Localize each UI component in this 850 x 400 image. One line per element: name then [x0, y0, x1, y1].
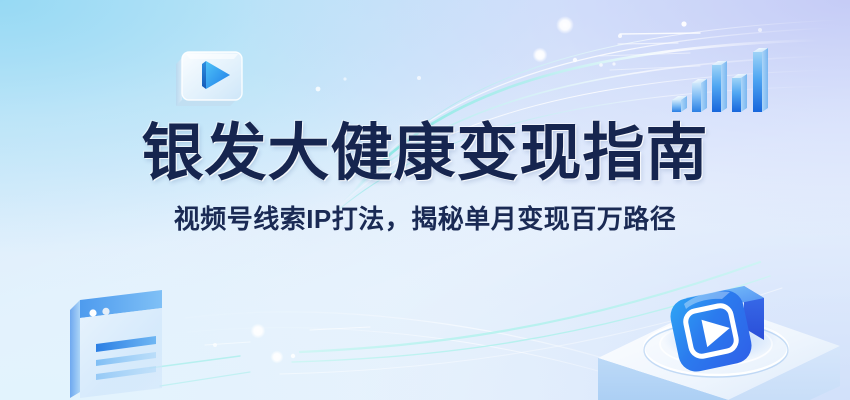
- glow-dot: [417, 76, 421, 80]
- glow-dot: [599, 63, 603, 67]
- glow-dot: [618, 34, 622, 38]
- bar-4: [732, 74, 747, 112]
- play-card-3d-icon: [172, 44, 248, 112]
- glow-dot: [556, 16, 574, 34]
- glow-dot: [316, 87, 321, 92]
- bar-2: [692, 79, 707, 112]
- glow-dot: [533, 48, 548, 63]
- bar-3: [712, 61, 727, 112]
- glow-dot: [573, 58, 577, 62]
- glow-dot: [343, 77, 346, 80]
- page-subtitle: 视频号线索IP打法，揭秘单月变现百万路径: [0, 202, 850, 236]
- glow-dot: [291, 354, 295, 358]
- video-icon-pedestal: [578, 268, 850, 400]
- promo-banner: 银发大健康变现指南 视频号线索IP打法，揭秘单月变现百万路径: [0, 0, 850, 400]
- glow-dot: [213, 343, 217, 347]
- page-title: 银发大健康变现指南: [0, 118, 850, 190]
- bar-5: [753, 48, 768, 112]
- window-dot: [102, 308, 109, 315]
- window-dot: [89, 309, 96, 316]
- glow-dot: [271, 351, 284, 364]
- growth-bar-chart: [670, 32, 775, 114]
- document-window-card-icon: [66, 286, 170, 398]
- glow-dot: [612, 62, 615, 65]
- bar-1: [672, 96, 687, 112]
- glow-dot: [681, 21, 686, 26]
- title-block: 银发大健康变现指南 视频号线索IP打法，揭秘单月变现百万路径: [0, 118, 850, 236]
- glow-dot: [251, 324, 266, 339]
